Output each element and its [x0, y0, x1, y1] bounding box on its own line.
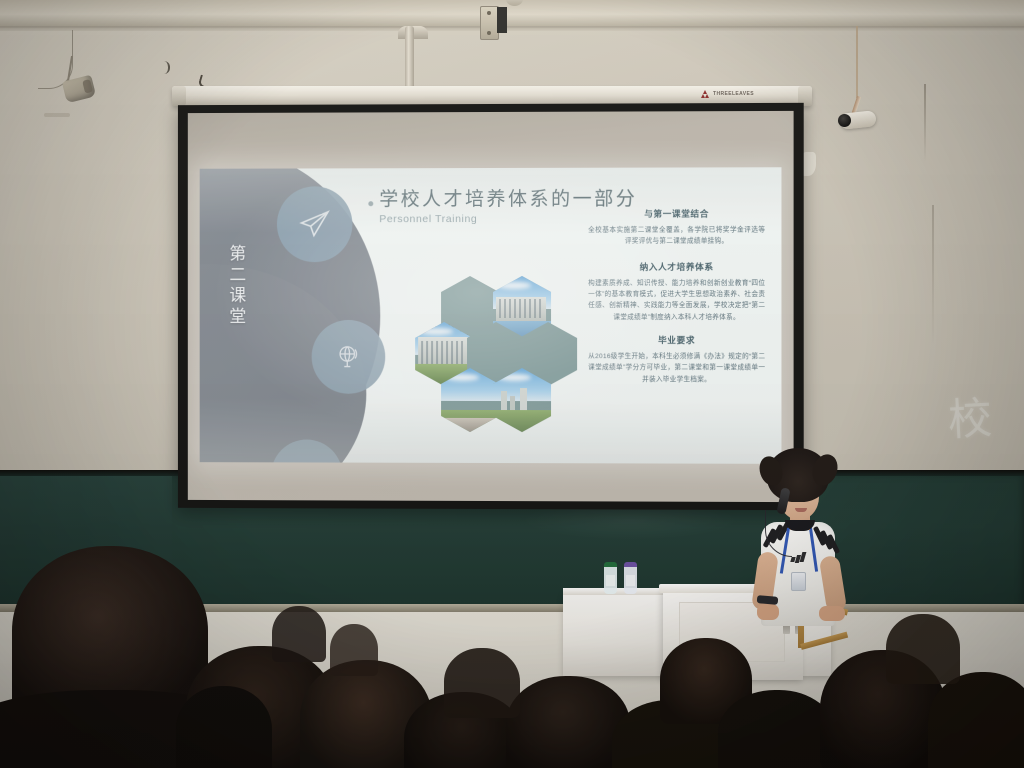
- section-body: 全校基本实施第二课堂全覆盖，各学院已将奖学金评选等评奖评优与第二课堂成绩单挂钩。: [588, 225, 765, 248]
- water-bottle-purple-cap: [624, 562, 637, 594]
- paper-plane-icon: [298, 207, 332, 241]
- section-body: 从2016级学生开始，本科生必须修满《办法》规定的“第二课堂成绩单”学分方可毕业…: [588, 351, 765, 385]
- campus-building: [496, 296, 546, 320]
- wristwatch: [757, 595, 779, 605]
- speaker-hair: [767, 448, 829, 502]
- title-bullet-icon: [368, 201, 373, 206]
- section-heading: 与第一课堂结合: [588, 207, 765, 219]
- audience-head: [444, 648, 520, 718]
- hexagon-photo-cluster: I♥AHUT: [413, 276, 565, 446]
- camera-cable: [856, 26, 858, 98]
- presentation-board-icon: [292, 462, 322, 463]
- projection-screen-surface: 第二课堂: [188, 111, 794, 502]
- wall-seam: [0, 26, 1024, 31]
- screen-brand: THREELEAVES: [701, 90, 754, 98]
- section-heading: 毕业要求: [588, 334, 765, 346]
- wall-crack-lower: [932, 205, 934, 345]
- globe-microphone-icon: [335, 343, 363, 371]
- camera-lens-icon: [838, 114, 851, 127]
- audience-head: [928, 672, 1024, 768]
- screen-brand-label: THREELEAVES: [713, 91, 754, 97]
- wall-mark: [44, 113, 70, 117]
- projection-screen-frame: 第二课堂: [178, 103, 804, 510]
- icon-circle-paper-plane: [277, 186, 352, 262]
- brand-logo-icon: [791, 552, 807, 562]
- audience-head: [176, 686, 272, 768]
- case-end-left: [172, 86, 186, 106]
- water-bottle-green-cap: [604, 562, 617, 594]
- speaker-hand-left: [757, 604, 779, 620]
- chalk-writing: 校: [947, 397, 999, 444]
- slide-text-column: 与第一课堂结合 全校基本实施第二课堂全覆盖，各学院已将奖学金评选等评奖评优与第二…: [588, 207, 765, 396]
- lawn: [493, 410, 551, 432]
- slide-canvas: 第二课堂: [200, 167, 782, 464]
- campus-road: [441, 418, 499, 432]
- three-diamonds-logo-icon: [701, 90, 710, 98]
- id-badge: [791, 572, 806, 591]
- lecture-hall-photo: THREELEAVES 校 第二课堂: [0, 0, 1024, 768]
- audience-head: [886, 614, 960, 684]
- wall-crack: [924, 84, 926, 162]
- audience-head: [330, 624, 378, 676]
- section-body: 构建素质养成、知识传授、能力培养和创新创业教育“四位一体”的基本教育模式，促进大…: [588, 278, 765, 324]
- speaker-figure: [735, 448, 855, 628]
- section-heading: 纳入人才培养体系: [588, 260, 765, 272]
- audience-head: [272, 606, 326, 662]
- projected-slide: 第二课堂: [200, 167, 782, 464]
- speaker-hand-right: [819, 606, 845, 621]
- audience-head: [718, 690, 836, 768]
- icon-circle-globe-microphone: [312, 320, 386, 394]
- screen-mount-shadow: [497, 7, 507, 33]
- slide-side-label: 第二课堂: [221, 244, 255, 327]
